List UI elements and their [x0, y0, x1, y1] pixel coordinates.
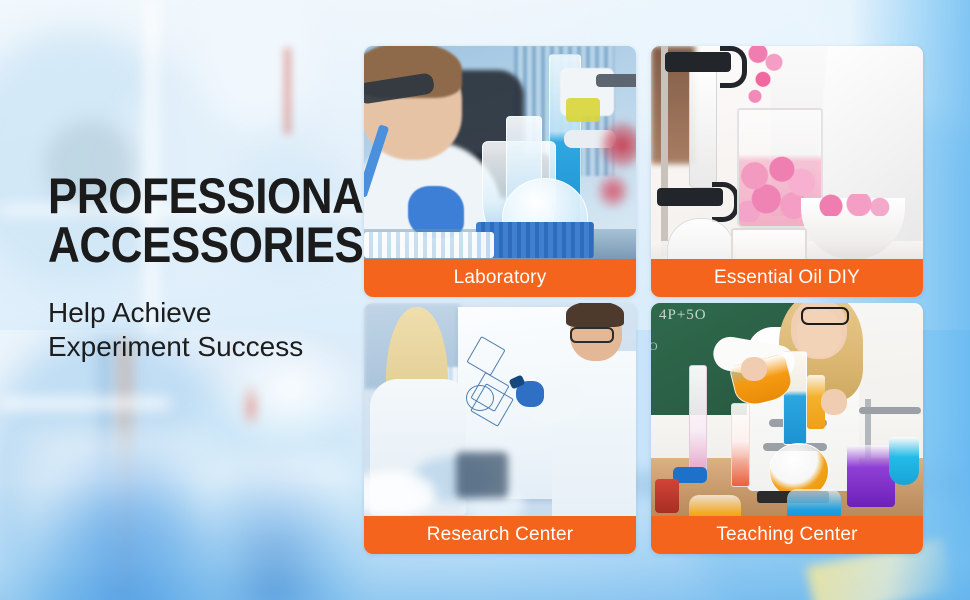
graduated-cylinder-icon [689, 365, 707, 475]
headline-line-2: ACCESSORIES [48, 221, 338, 270]
subtitle-line-2: Experiment Success [48, 330, 378, 364]
category-card-teaching-center[interactable]: 4P+5O O [651, 303, 923, 554]
molecule-diagram-icon [466, 385, 494, 411]
falling-petals-shape [743, 46, 793, 120]
researcher-hair-shape [566, 303, 624, 327]
card-label-research-center[interactable]: Research Center [364, 516, 636, 554]
page-subtitle: Help Achieve Experiment Success [48, 296, 378, 364]
yellow-liquid-shape [566, 98, 600, 122]
clamp-icon [859, 407, 921, 414]
student-hand-shape [821, 389, 847, 415]
headline-line-1: PROFESSIONAL [48, 168, 390, 224]
category-card-grid: Laboratory Essential Oil DIY [364, 46, 923, 554]
background-flame [243, 383, 259, 423]
condenser-icon [689, 64, 717, 188]
purple-liquid-flask-icon [847, 445, 895, 507]
eyeglasses-icon [801, 307, 849, 325]
category-card-research-center[interactable]: Research Center [364, 303, 636, 554]
clamp-icon [665, 52, 731, 72]
promo-banner: PROFESSIONAL ACCESSORIES Help Achieve Ex… [0, 0, 970, 600]
card-label-teaching-center[interactable]: Teaching Center [651, 516, 923, 554]
chalkboard-equation-2: O [651, 339, 658, 354]
page-title: PROFESSIONAL ACCESSORIES [48, 172, 338, 270]
chalkboard-equation-1: 4P+5O [659, 307, 707, 324]
headline-block: PROFESSIONAL ACCESSORIES Help Achieve Ex… [48, 172, 378, 364]
subtitle-line-1: Help Achieve [48, 297, 211, 328]
bowl-petals-shape [811, 194, 891, 216]
card-label-laboratory[interactable]: Laboratory [364, 259, 636, 297]
clamp-icon [657, 188, 723, 206]
graduated-cylinder-icon [731, 403, 750, 487]
bokeh-highlight [598, 174, 628, 208]
background-shelf-line [0, 398, 170, 409]
category-card-laboratory[interactable]: Laboratory [364, 46, 636, 297]
foreground-dark-object [456, 452, 508, 498]
cyan-liquid-flask-icon [889, 437, 919, 485]
student-hand-shape [741, 357, 767, 381]
eyeglasses-icon [570, 327, 614, 343]
bokeh-highlight [602, 122, 636, 168]
clamp-icon [596, 74, 636, 87]
category-card-essential-oil-diy[interactable]: Essential Oil DIY [651, 46, 923, 297]
test-tube-row-shape [364, 232, 494, 258]
background-red-marker [284, 48, 291, 134]
red-reagent-bottle-icon [655, 479, 679, 513]
retort-stand-icon [661, 46, 668, 256]
lab-coat-shape [552, 351, 636, 521]
card-label-essential-oil-diy[interactable]: Essential Oil DIY [651, 259, 923, 297]
